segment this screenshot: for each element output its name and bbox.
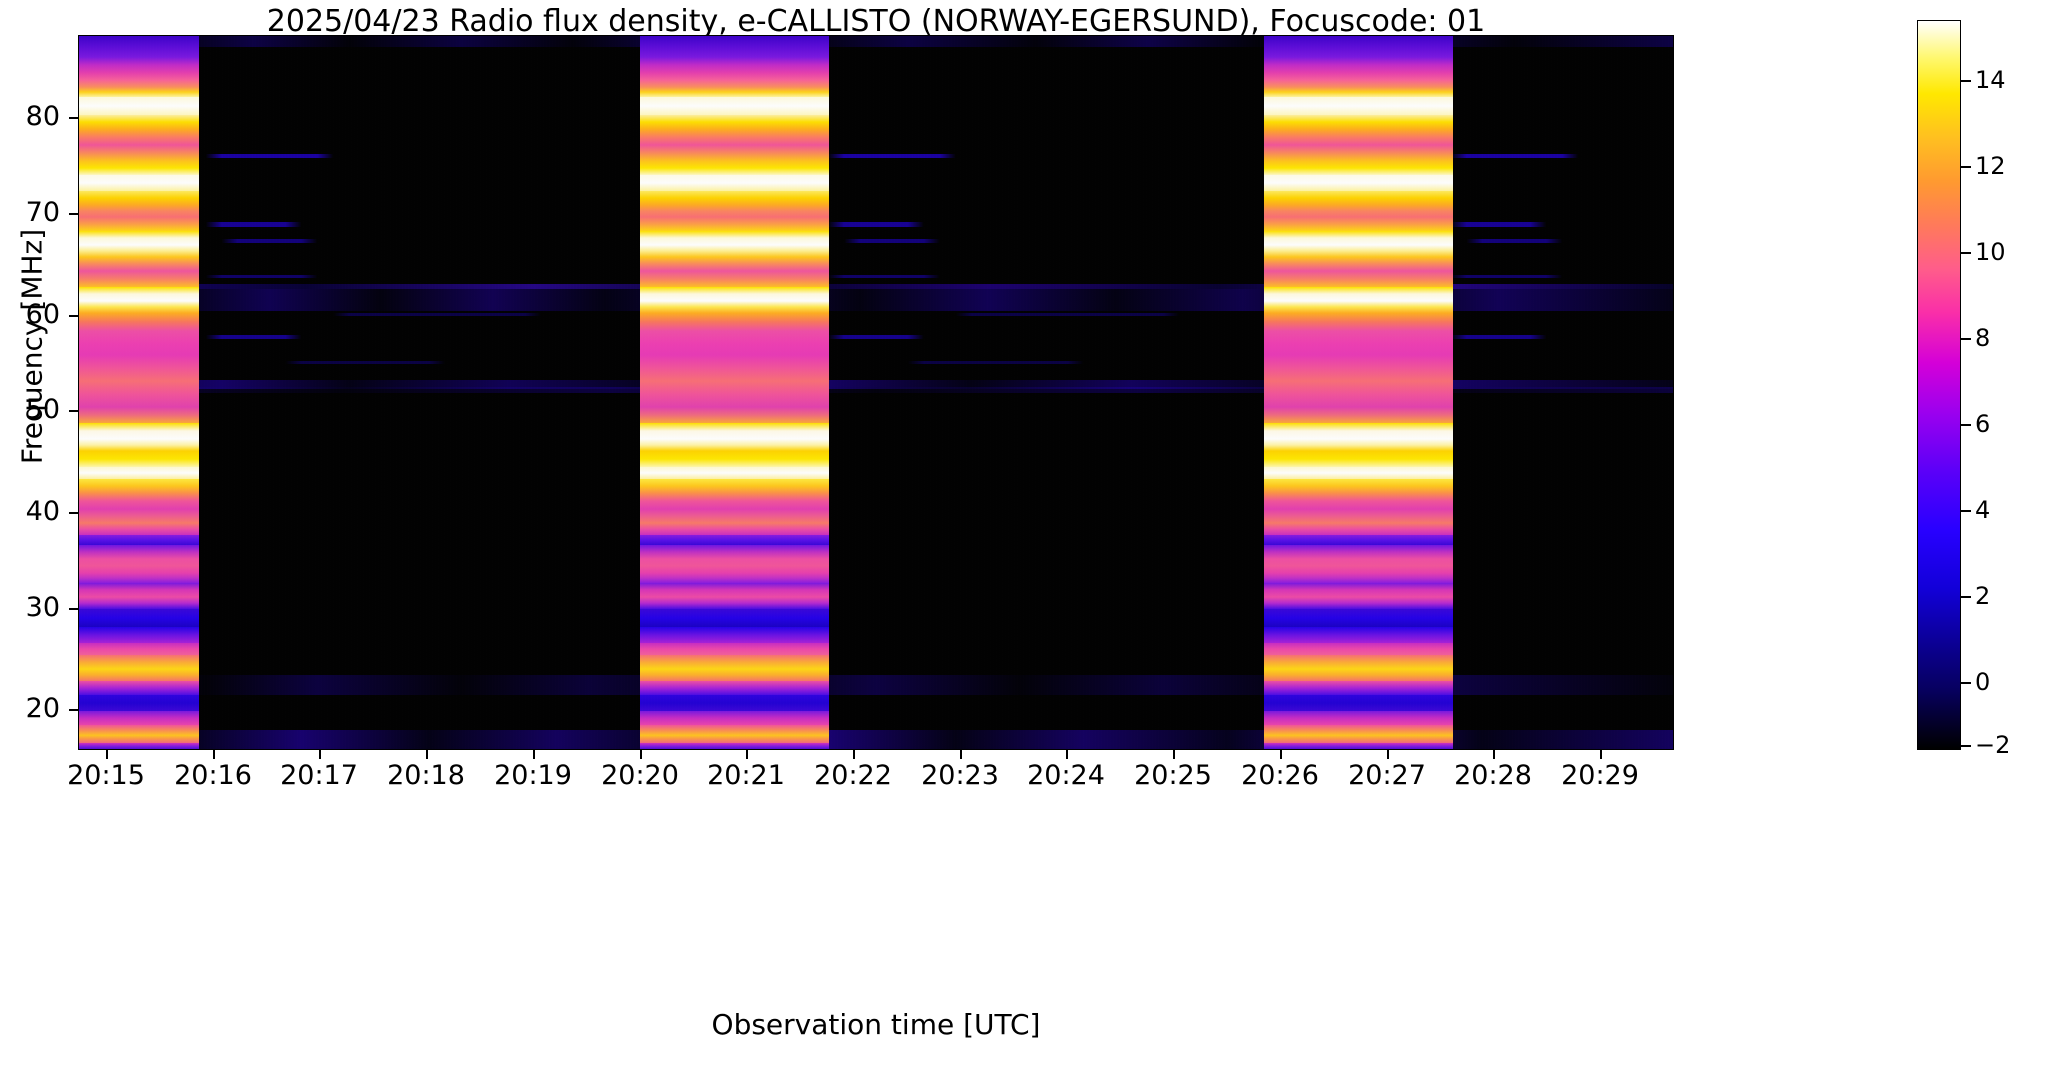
cbtick-label-4: 4 xyxy=(1975,496,1990,524)
ytick-mark-30 xyxy=(69,608,78,610)
burst-block-2 xyxy=(640,35,829,750)
cbtick-mark-10 xyxy=(1961,252,1971,254)
cbtick-label-neg2: −2 xyxy=(1975,731,2010,759)
ytick-label-20: 20 xyxy=(0,693,60,724)
xtick-mark-2029 xyxy=(1600,750,1602,759)
y-axis-label: Frequency [MHz] xyxy=(16,0,49,697)
ytick-mark-50 xyxy=(69,410,78,412)
spectrogram-canvas[interactable] xyxy=(78,35,1674,750)
cbtick-mark-neg2 xyxy=(1961,745,1971,747)
xtick-mark-2022 xyxy=(853,750,855,759)
cbtick-label-14: 14 xyxy=(1975,66,2006,94)
xtick-mark-2025 xyxy=(1173,750,1175,759)
xtick-mark-2023 xyxy=(960,750,962,759)
xtick-mark-2015 xyxy=(106,750,108,759)
xtick-mark-2024 xyxy=(1066,750,1068,759)
colorbar[interactable] xyxy=(1917,20,1961,750)
xtick-mark-2028 xyxy=(1493,750,1495,759)
ytick-mark-20 xyxy=(69,709,78,711)
ytick-mark-80 xyxy=(69,117,78,119)
ytick-mark-60 xyxy=(69,315,78,317)
xtick-mark-2016 xyxy=(213,750,215,759)
xtick-mark-2018 xyxy=(426,750,428,759)
cbtick-mark-12 xyxy=(1961,166,1971,168)
cbtick-mark-2 xyxy=(1961,596,1971,598)
cbtick-label-8: 8 xyxy=(1975,324,1990,352)
xtick-label-2029: 20:29 xyxy=(1530,760,1670,791)
burst-block-1 xyxy=(78,35,199,750)
cbtick-mark-4 xyxy=(1961,510,1971,512)
cbtick-label-10: 10 xyxy=(1975,238,2006,266)
burst-block-3 xyxy=(1264,35,1453,750)
figure-root: 2025/04/23 Radio flux density, e-CALLIST… xyxy=(0,0,2047,1067)
xtick-mark-2019 xyxy=(533,750,535,759)
xtick-mark-2017 xyxy=(319,750,321,759)
cbtick-label-12: 12 xyxy=(1975,152,2006,180)
cbtick-label-6: 6 xyxy=(1975,410,1990,438)
ytick-mark-70 xyxy=(69,213,78,215)
cbtick-label-2: 2 xyxy=(1975,582,1990,610)
ytick-mark-40 xyxy=(69,512,78,514)
cbtick-mark-6 xyxy=(1961,424,1971,426)
xtick-mark-2027 xyxy=(1387,750,1389,759)
cbtick-mark-8 xyxy=(1961,338,1971,340)
cbtick-mark-0 xyxy=(1961,682,1971,684)
x-axis-label: Observation time [UTC] xyxy=(78,1008,1674,1041)
cbtick-label-0: 0 xyxy=(1975,668,1990,696)
page-title: 2025/04/23 Radio flux density, e-CALLIST… xyxy=(78,4,1674,39)
xtick-mark-2026 xyxy=(1280,750,1282,759)
xtick-mark-2020 xyxy=(640,750,642,759)
xtick-mark-2021 xyxy=(746,750,748,759)
cbtick-mark-14 xyxy=(1961,80,1971,82)
